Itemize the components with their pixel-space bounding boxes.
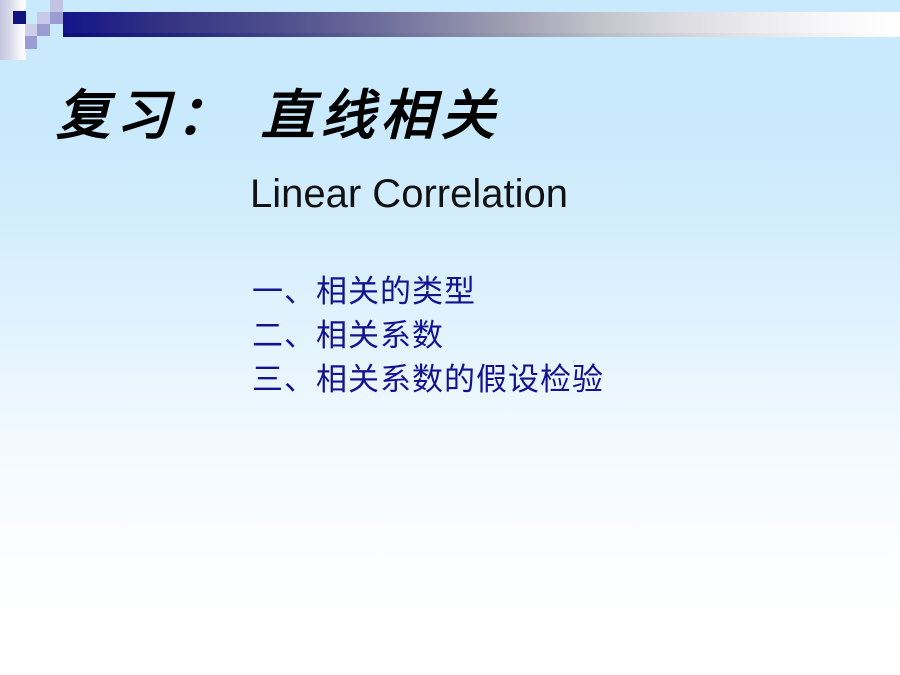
agenda-list: 一、相关的类型 二、相关系数 三、相关系数的假设检验 (252, 270, 852, 402)
decoration-left-gradient-strip (0, 0, 26, 60)
decoration-square-light-2 (37, 12, 50, 24)
slide-header-decoration (0, 0, 900, 60)
slide-canvas: 复习： 直线相关 Linear Correlation 一、相关的类型 二、相关… (0, 0, 900, 675)
agenda-item-3: 三、相关系数的假设检验 (252, 358, 852, 402)
decoration-square-medium-2 (37, 24, 50, 36)
slide-title-chinese: 复习： 直线相关 (56, 84, 501, 146)
decoration-square-medium-3 (25, 36, 37, 49)
decoration-gradient-bar-shadow (63, 33, 900, 37)
decoration-square-medium-1 (50, 12, 63, 24)
decoration-square-light-3 (25, 24, 37, 36)
agenda-item-1: 一、相关的类型 (252, 270, 852, 314)
slide-title-english: Linear Correlation (250, 172, 568, 216)
decoration-square-light-1 (50, 0, 63, 12)
decoration-navy-square (13, 11, 26, 24)
agenda-item-2: 二、相关系数 (252, 314, 852, 358)
